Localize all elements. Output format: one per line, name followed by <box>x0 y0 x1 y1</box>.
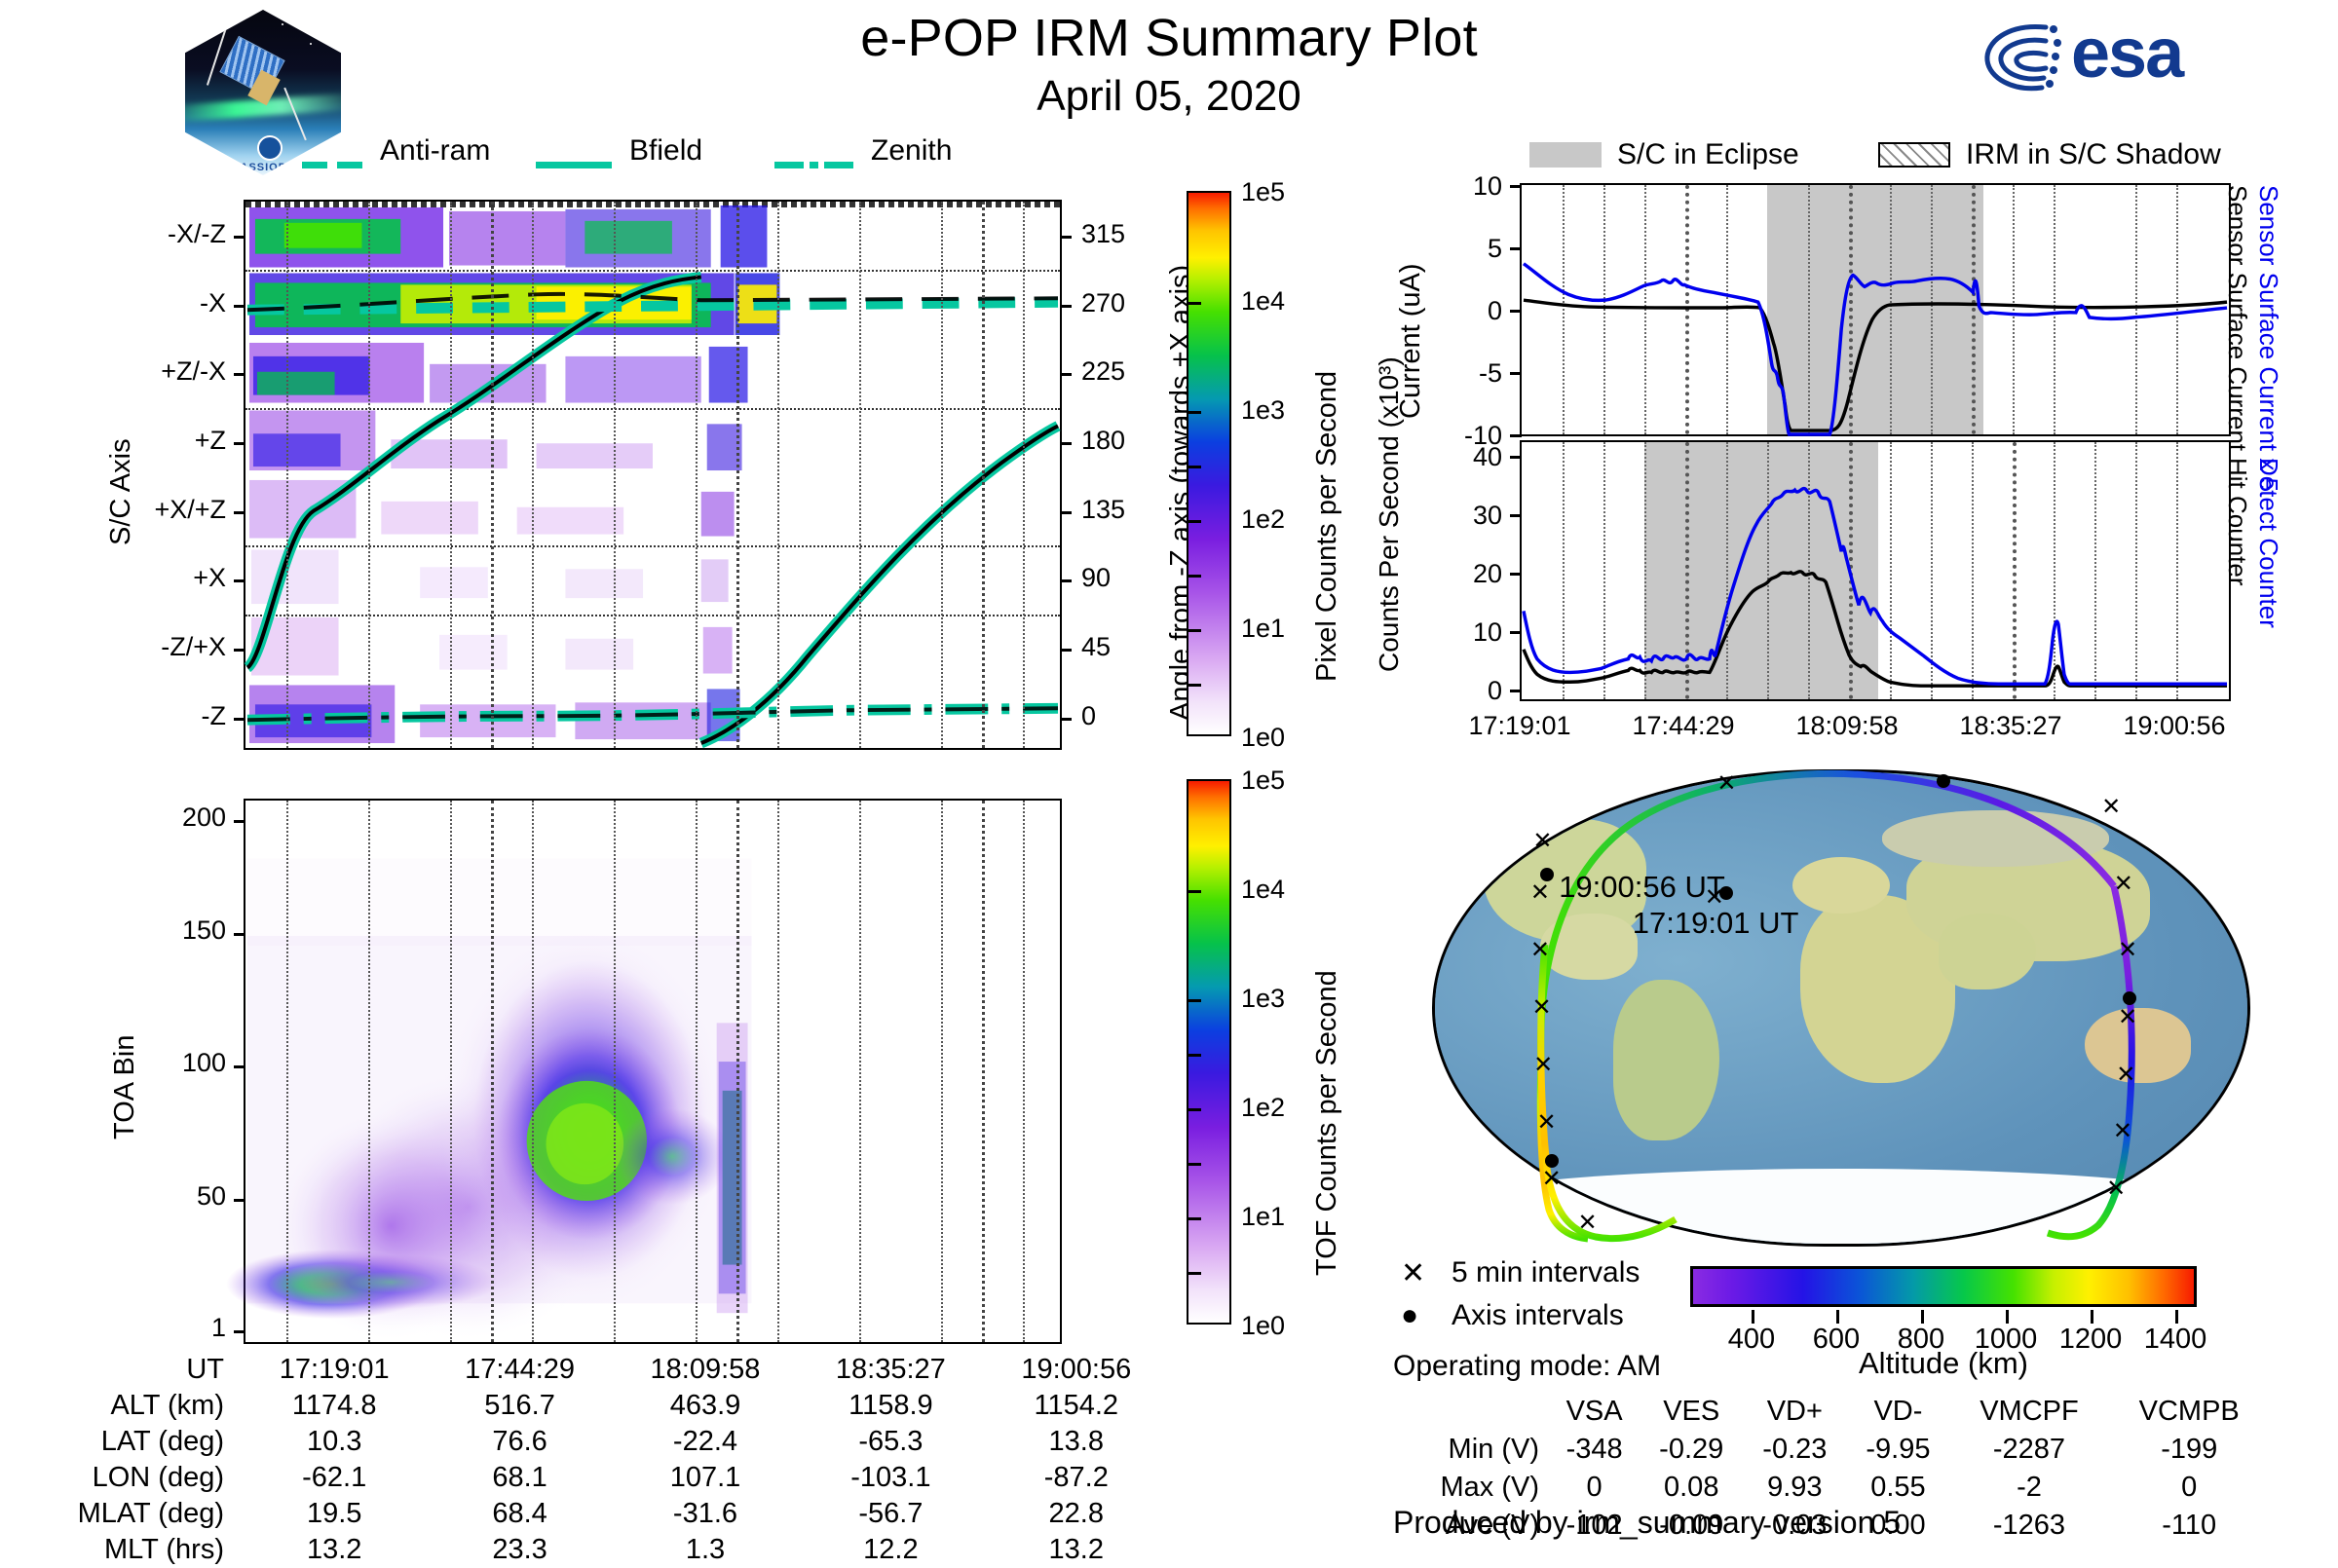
panel-b-spectrogram <box>244 799 1062 1344</box>
map-axis-dot <box>1540 868 1554 881</box>
panel-c-current <box>1520 183 2231 436</box>
altitude-colorbar: 400 600 800 1000 1200 1400 <box>1690 1266 2197 1307</box>
legend-shadow-swatch <box>1878 142 1950 168</box>
map-x-marker: ✕ <box>1578 1212 1598 1235</box>
volt-header-5: VCMPB <box>2108 1393 2270 1431</box>
right-xtick-4: 19:00:56 <box>2123 711 2225 741</box>
volt-ave-5: -110 <box>2108 1507 2270 1545</box>
panel-d-ytick-3: 10 <box>1428 617 1502 648</box>
panel-b-cb-tick-0: 1e5 <box>1241 765 1285 796</box>
panel-a-colorbar-label: Pixel Counts per Second <box>1311 371 1343 682</box>
ephemeris-table: UT 17:19:01 17:44:29 18:09:58 18:35:27 1… <box>39 1352 1169 1568</box>
volt-max-4: -2 <box>1950 1469 2109 1507</box>
ground-track-map: ✕ ✕ ✕ ✕ ✕ ✕ ✕ ✕ ✕ ✕ ✕ ✕ ✕ ✕ ✕ ✕ ✕ 19:00:… <box>1432 769 2250 1247</box>
legend-label-shadow: IRM in S/C Shadow <box>1966 138 2221 171</box>
volt-header-3: VD- <box>1846 1393 1949 1431</box>
right-panels-legend: S/C in Eclipse IRM in S/C Shadow <box>1520 138 2260 173</box>
right-xtick-0: 17:19:01 <box>1468 711 1570 741</box>
panel-c-right-label-blue: Sensor Surface Current x 5 <box>2253 185 2283 492</box>
cell-mlt-2: 1.3 <box>613 1532 798 1568</box>
panel-b-cb-tick-4: 1e1 <box>1241 1202 1285 1232</box>
cell-ut-4: 19:00:56 <box>984 1352 1169 1388</box>
cell-mlat-4: 22.8 <box>984 1496 1169 1532</box>
legend-anti-ram-swatch-2 <box>337 162 362 168</box>
map-legend-label-axis: Axis intervals <box>1452 1299 1624 1332</box>
panel-d-traces <box>1522 442 2229 699</box>
map-legend-x-icon: ✕ <box>1401 1256 1425 1290</box>
panel-a-cb-tick-5: 1e0 <box>1241 723 1285 753</box>
legend-label-zenith: Zenith <box>871 134 952 168</box>
panel-d-ytick-4: 0 <box>1428 676 1502 706</box>
panel-a-ytick-6: -Z/+X <box>0 632 226 662</box>
cell-ut-0: 17:19:01 <box>242 1352 427 1388</box>
volt-row-label-max: Max (V) <box>1393 1469 1549 1507</box>
cell-alt-3: 1158.9 <box>798 1388 983 1424</box>
cell-ut-3: 18:35:27 <box>798 1352 983 1388</box>
map-x-marker: ✕ <box>1537 1111 1557 1135</box>
panel-a-ytick-right-0: 315 <box>1081 219 1125 249</box>
legend-label-anti-ram: Anti-ram <box>380 134 490 168</box>
map-x-marker: ✕ <box>2113 1120 2132 1143</box>
map-x-marker: ✕ <box>1530 881 1550 905</box>
panel-a-ytick-right-4: 135 <box>1081 495 1125 525</box>
cell-mlt-3: 12.2 <box>798 1532 983 1568</box>
map-annotation-end: 19:00:56 UT <box>1559 870 1725 905</box>
map-axis-dot <box>2123 991 2136 1005</box>
cell-lon-3: -103.1 <box>798 1460 983 1496</box>
panel-a-ytick-4: +X/+Z <box>0 495 226 525</box>
panel-c-ytick-1: 5 <box>1428 234 1502 264</box>
table-row: LAT (deg) 10.3 76.6 -22.4 -65.3 13.8 <box>39 1424 1169 1460</box>
panel-a-cb-tick-3: 1e2 <box>1241 504 1285 535</box>
panel-c-ytick-2: 0 <box>1428 296 1502 326</box>
cell-mlt-0: 13.2 <box>242 1532 427 1568</box>
cell-lat-3: -65.3 <box>798 1424 983 1460</box>
panel-a-ytick-right-2: 225 <box>1081 356 1125 387</box>
panel-a-legend: Anti-ram Bfield Zenith <box>244 146 1062 185</box>
volt-min-3: -9.95 <box>1846 1431 1949 1469</box>
map-x-marker: ✕ <box>1542 1168 1562 1191</box>
volt-min-4: -2287 <box>1950 1431 2109 1469</box>
panel-a-ytick-right-1: 270 <box>1081 288 1125 318</box>
volt-header-1: VES <box>1640 1393 1743 1431</box>
map-x-marker: ✕ <box>2116 1064 2135 1087</box>
map-annotation-start: 17:19:01 UT <box>1633 906 1799 941</box>
panel-c-traces <box>1522 185 2229 434</box>
table-row: MLAT (deg) 19.5 68.4 -31.6 -56.7 22.8 <box>39 1496 1169 1532</box>
panel-a-cb-tick-2: 1e3 <box>1241 395 1285 426</box>
panel-d-ylabel: Counts Per Second (x10³) <box>1374 356 1405 672</box>
panel-a-colorbar <box>1187 191 1231 736</box>
legend-eclipse-swatch <box>1529 142 1602 168</box>
volt-row-label-min: Min (V) <box>1393 1431 1549 1469</box>
table-row: UT 17:19:01 17:44:29 18:09:58 18:35:27 1… <box>39 1352 1169 1388</box>
cell-alt-4: 1154.2 <box>984 1388 1169 1424</box>
legend-label-eclipse: S/C in Eclipse <box>1617 138 1799 171</box>
table-header-row: VSA VES VD+ VD- VMCPF VCMPB <box>1393 1393 2270 1431</box>
map-axis-dot <box>1545 1154 1559 1168</box>
panel-d-right-label-blue: Detect Counter <box>2253 458 2283 628</box>
map-axis-dot <box>1937 774 1950 788</box>
map-legend-label-5min: 5 min intervals <box>1452 1256 1640 1289</box>
map-x-marker: ✕ <box>1530 939 1550 962</box>
cell-lon-2: 107.1 <box>613 1460 798 1496</box>
esa-swirl-icon <box>1978 18 2067 99</box>
altitude-colorbar-label: Altitude (km) <box>1690 1346 2197 1381</box>
legend-label-bfield: Bfield <box>629 134 702 168</box>
panel-a-ytick-7: -Z <box>0 701 226 731</box>
panel-a-cb-tick-1: 1e4 <box>1241 286 1285 317</box>
right-xtick-2: 18:09:58 <box>1795 711 1898 741</box>
cell-ut-2: 18:09:58 <box>613 1352 798 1388</box>
panel-a-ytick-2: +Z/-X <box>0 356 226 387</box>
table-row: ALT (km) 1174.8 516.7 463.9 1158.9 1154.… <box>39 1388 1169 1424</box>
cell-alt-1: 516.7 <box>427 1388 612 1424</box>
panel-a-ytick-right-3: 180 <box>1081 426 1125 456</box>
panel-d-ytick-1: 30 <box>1428 501 1502 531</box>
cell-mlat-2: -31.6 <box>613 1496 798 1532</box>
panel-d-ytick-2: 20 <box>1428 559 1502 589</box>
row-label-alt: ALT (km) <box>39 1388 242 1424</box>
panel-b-colorbar-label: TOF Counts per Second <box>1311 970 1343 1276</box>
panel-b-ytick-0: 200 <box>0 803 226 833</box>
map-x-marker: ✕ <box>1532 830 1552 853</box>
cell-mlt-1: 23.3 <box>427 1532 612 1568</box>
cell-mlt-4: 13.2 <box>984 1532 1169 1568</box>
volt-max-5: 0 <box>2108 1469 2270 1507</box>
cell-mlat-0: 19.5 <box>242 1496 427 1532</box>
panel-a-ytick-right-6: 45 <box>1081 632 1111 662</box>
panel-c-ytick-0: 10 <box>1428 171 1502 202</box>
panel-d-counts <box>1520 440 2231 701</box>
panel-a-cb-tick-4: 1e1 <box>1241 614 1285 644</box>
panel-b-colorbar <box>1187 779 1231 1325</box>
volt-min-5: -199 <box>2108 1431 2270 1469</box>
map-x-marker: ✕ <box>2114 873 2133 896</box>
esa-logo: esa <box>1978 12 2270 105</box>
volt-min-2: -0.23 <box>1743 1431 1846 1469</box>
legend-zenith-swatch-a <box>774 162 804 168</box>
cell-lon-1: 68.1 <box>427 1460 612 1496</box>
cell-mlat-3: -56.7 <box>798 1496 983 1532</box>
panel-b-ytick-1: 150 <box>0 915 226 946</box>
legend-bfield-swatch <box>536 162 612 168</box>
legend-anti-ram-swatch <box>302 162 327 168</box>
volt-header-4: VMCPF <box>1950 1393 2109 1431</box>
esa-logo-text: esa <box>2071 14 2182 93</box>
panel-b-cb-tick-3: 1e2 <box>1241 1093 1285 1123</box>
table-row: LON (deg) -62.1 68.1 107.1 -103.1 -87.2 <box>39 1460 1169 1496</box>
table-row: Max (V) 0 0.08 9.93 0.55 -2 0 <box>1393 1469 2270 1507</box>
map-x-marker: ✕ <box>1531 996 1551 1020</box>
cell-lat-2: -22.4 <box>613 1424 798 1460</box>
footer-text: Produced by irm_summary version 5 <box>1393 1505 1901 1541</box>
volt-ave-4: -1263 <box>1950 1507 2109 1545</box>
cell-lat-4: 13.8 <box>984 1424 1169 1460</box>
panel-b-ytick-2: 100 <box>0 1048 226 1078</box>
cell-lon-4: -87.2 <box>984 1460 1169 1496</box>
row-label-mlat: MLAT (deg) <box>39 1496 242 1532</box>
panel-c-right-label-black: Sensor Surface Current <box>2222 185 2252 451</box>
map-x-marker: ✕ <box>1716 772 1736 796</box>
panel-b-ytick-3: 50 <box>0 1181 226 1212</box>
volt-min-1: -0.29 <box>1640 1431 1743 1469</box>
map-legend-dot-icon: ● <box>1401 1299 1418 1332</box>
map-x-marker: ✕ <box>2101 796 2121 819</box>
right-xtick-3: 18:35:27 <box>1959 711 2061 741</box>
panel-b-cb-tick-5: 1e0 <box>1241 1311 1285 1341</box>
panel-d-ytick-0: 40 <box>1428 442 1502 472</box>
cell-lat-0: 10.3 <box>242 1424 427 1460</box>
row-label-lat: LAT (deg) <box>39 1424 242 1460</box>
map-x-marker: ✕ <box>2118 939 2137 962</box>
legend-zenith-swatch-c <box>824 162 853 168</box>
panel-a-ytick-0: -X/-Z <box>0 219 226 249</box>
volt-max-3: 0.55 <box>1846 1469 1949 1507</box>
map-x-marker: ✕ <box>2118 1006 2137 1029</box>
volt-header-2: VD+ <box>1743 1393 1846 1431</box>
panel-a-spectrogram <box>244 200 1062 750</box>
cell-alt-0: 1174.8 <box>242 1388 427 1424</box>
panel-b-cb-tick-2: 1e3 <box>1241 984 1285 1014</box>
panel-a-ytick-3: +Z <box>0 426 226 456</box>
volt-max-1: 0.08 <box>1640 1469 1743 1507</box>
panel-a-cb-tick-0: 1e5 <box>1241 177 1285 207</box>
map-x-marker: ✕ <box>1533 1054 1553 1077</box>
cell-ut-1: 17:44:29 <box>427 1352 612 1388</box>
cell-mlat-1: 68.4 <box>427 1496 612 1532</box>
right-xtick-1: 17:44:29 <box>1632 711 1734 741</box>
panel-a-ytick-right-7: 0 <box>1081 701 1096 731</box>
table-row: MLT (hrs) 13.2 23.3 1.3 12.2 13.2 <box>39 1532 1169 1568</box>
volt-header-0: VSA <box>1549 1393 1640 1431</box>
panel-a-ytick-right-5: 90 <box>1081 563 1111 593</box>
volt-min-0: -348 <box>1549 1431 1640 1469</box>
panel-d-right-label-black: Hit Counter <box>2222 458 2252 586</box>
panel-a-ytick-5: +X <box>0 563 226 593</box>
legend-zenith-swatch-b <box>810 162 818 168</box>
map-x-marker: ✕ <box>2106 1177 2126 1201</box>
panel-b-cb-tick-1: 1e4 <box>1241 875 1285 905</box>
row-label-lon: LON (deg) <box>39 1460 242 1496</box>
volt-max-0: 0 <box>1549 1469 1640 1507</box>
cell-lat-1: 76.6 <box>427 1424 612 1460</box>
table-row: Min (V) -348 -0.29 -0.23 -9.95 -2287 -19… <box>1393 1431 2270 1469</box>
row-label-mlt: MLT (hrs) <box>39 1532 242 1568</box>
panel-c-ytick-3: -5 <box>1428 358 1502 389</box>
operating-mode-label: Operating mode: AM <box>1393 1350 1661 1383</box>
panel-b-ytick-4: 1 <box>0 1313 226 1343</box>
row-label-ut: UT <box>39 1352 242 1388</box>
volt-max-2: 9.93 <box>1743 1469 1846 1507</box>
cell-lon-0: -62.1 <box>242 1460 427 1496</box>
cell-alt-2: 463.9 <box>613 1388 798 1424</box>
panel-a-ytick-1: -X <box>0 288 226 318</box>
